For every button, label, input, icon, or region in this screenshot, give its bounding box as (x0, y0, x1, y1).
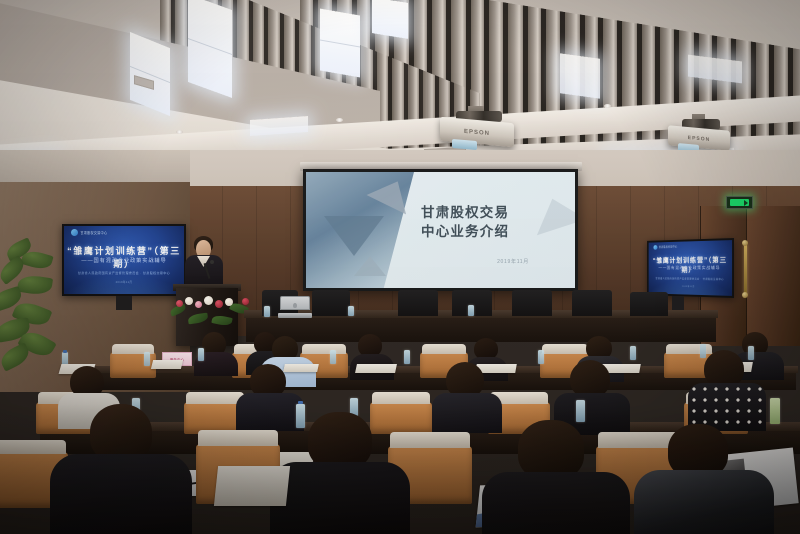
water-bottle[interactable] (748, 346, 754, 360)
water-bottle[interactable] (330, 350, 336, 364)
flower-arrangement (168, 292, 252, 326)
attendee-head (518, 420, 584, 480)
audience-chair-headrest (542, 344, 588, 354)
door-handle-knob[interactable] (742, 240, 748, 246)
attendee-body (634, 470, 774, 534)
lcd-left-stand (116, 296, 132, 310)
head-table-chair (512, 290, 552, 316)
flower-bloom-pink (195, 301, 202, 308)
organization-logo-icon (653, 245, 657, 250)
water-bottle[interactable] (348, 306, 354, 316)
lcd-right-display: 甘肃股权交易中心 “雏鹰计划训练营”（第三期） ——国有混改企业政策实战辅导 甘… (649, 240, 732, 296)
ceiling-downlight (604, 104, 611, 108)
water-bottle[interactable] (296, 404, 305, 428)
lcd-left-display: 甘肃股权交易中心 “雏鹰计划训练营”（第三期） ——国有混改企业政策实战辅导 甘… (64, 226, 184, 294)
flower-greenery (211, 314, 232, 327)
ceiling-downlight (336, 118, 343, 122)
lcd-left-logo-text: 甘肃股权交易中心 (80, 230, 107, 235)
water-bottle[interactable] (576, 400, 585, 422)
ceiling-light-panel (188, 0, 232, 98)
foreground-chair-headrest (198, 430, 278, 446)
slide-title-line1: 甘肃股权交易 (421, 203, 561, 222)
flower-bloom-pink (234, 302, 241, 309)
lcd-right-subtitle: ——国有混改企业政策实战辅导 (649, 265, 732, 271)
exit-arrow-icon (744, 200, 748, 206)
laptop-macbook[interactable] (280, 296, 310, 318)
water-bottle[interactable] (198, 348, 204, 361)
audience-chair-headrest (302, 344, 346, 354)
flower-bloom-red (176, 300, 183, 307)
handout-paper[interactable] (283, 364, 319, 372)
ceiling-light-panel (372, 0, 408, 39)
audience-chair[interactable] (370, 402, 432, 434)
water-bottle[interactable] (770, 398, 780, 424)
organization-logo-icon (71, 229, 78, 236)
left-wall-upper (0, 150, 190, 184)
exit-icon (730, 199, 749, 206)
water-bottle[interactable] (700, 344, 706, 358)
head-table-chair (312, 290, 350, 316)
laptop-keyboard-base (278, 313, 312, 318)
foreground-chair-headrest (390, 432, 470, 448)
potted-plant (0, 238, 66, 368)
water-bottle[interactable] (630, 346, 636, 360)
slide-triangle-3 (354, 256, 386, 276)
lcd-left-logo: 甘肃股权交易中心 (71, 229, 107, 236)
flower-bloom-red (242, 298, 249, 305)
attendee-body (482, 472, 630, 534)
flower-bloom-white (225, 298, 233, 306)
door-handle-knob[interactable] (742, 292, 748, 298)
projector-left: EPSON (440, 120, 514, 144)
conference-room-photo: EPSON EPSON 甘肃股权交易 中心业务介绍 2019年11月 (0, 0, 800, 534)
bottle-cap (63, 350, 67, 353)
foreground-chair-headrest (598, 432, 678, 448)
attendee-body (270, 462, 410, 534)
water-bottle[interactable] (264, 306, 270, 317)
audience-chair-headrest (422, 344, 466, 354)
attendee-body (236, 393, 304, 431)
door-handle-vertical[interactable] (744, 244, 747, 296)
slide-title-line2: 中心业务介绍 (421, 222, 561, 241)
lcd-screen-left: 甘肃股权交易中心 “雏鹰计划训练营”（第三期） ——国有混改企业政策实战辅导 甘… (62, 224, 186, 296)
handout-paper[interactable] (355, 364, 397, 373)
microphone-icon (210, 260, 214, 264)
projection-slide: 甘肃股权交易 中心业务介绍 2019年11月 (306, 172, 575, 288)
flower-bloom-red (215, 300, 223, 308)
head-table-chair (572, 290, 612, 316)
lcd-right-logo: 甘肃股权交易中心 (653, 244, 677, 249)
foreground-chair-headrest (0, 440, 66, 454)
audience-chair-headrest (186, 392, 244, 404)
attendee-body (50, 454, 192, 534)
lcd-left-line4: 2019年11月 (64, 280, 184, 284)
handout-paper[interactable] (151, 360, 183, 369)
attendee-body (432, 393, 502, 433)
exit-sign (726, 196, 753, 209)
plant-leaf (17, 274, 53, 297)
lcd-left-line3: 甘肃省人民政府国有资产监督管理委员会 · 甘肃股权交易中心 (64, 271, 184, 275)
lcd-right-logo-text: 甘肃股权交易中心 (659, 245, 677, 249)
ceiling-light-panel (320, 8, 360, 77)
head-table-chair (398, 290, 438, 316)
notepad[interactable] (214, 466, 290, 506)
lcd-screen-right: 甘肃股权交易中心 “雏鹰计划训练营”（第三期） ——国有混改企业政策实战辅导 甘… (647, 238, 734, 298)
slide-date: 2019年11月 (497, 258, 529, 265)
water-bottle[interactable] (538, 350, 544, 364)
water-bottle[interactable] (144, 352, 150, 366)
slide-triangle-2 (324, 216, 384, 256)
flower-greenery (187, 313, 208, 325)
bottle-cap (298, 401, 303, 404)
head-table-chair (630, 292, 668, 316)
lcd-left-subtitle: ——国有混改企业政策实战辅导 (64, 257, 184, 264)
water-bottle[interactable] (468, 305, 474, 316)
door-right-b[interactable] (746, 206, 800, 346)
projector-right: EPSON (668, 128, 730, 148)
audience-chair-headrest (372, 392, 430, 404)
flower-bloom-white (185, 297, 193, 305)
ceiling-downlight (176, 130, 183, 134)
water-bottle[interactable] (404, 350, 410, 364)
flower-bloom-white (204, 296, 213, 305)
ceiling-light-panel (560, 53, 600, 99)
